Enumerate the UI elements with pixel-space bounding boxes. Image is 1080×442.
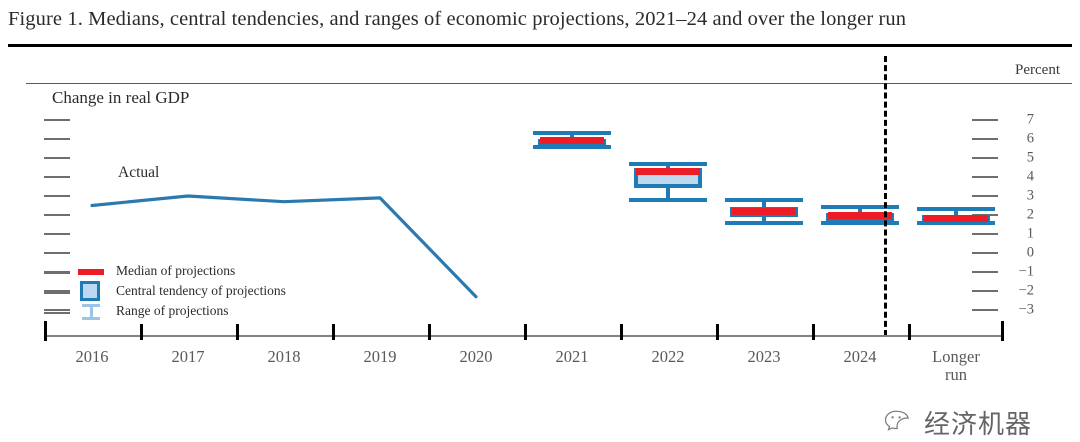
- whisker-cap-high: [629, 162, 707, 166]
- y-tick-left: [44, 214, 70, 216]
- y-tick-label: 0: [1008, 245, 1034, 262]
- figure-title: Figure 1. Medians, central tendencies, a…: [8, 8, 1072, 31]
- whisker-cap-high: [821, 205, 899, 209]
- x-tick: [908, 324, 911, 340]
- y-tick-label: −1: [1008, 264, 1034, 281]
- y-tick-left: [44, 252, 70, 254]
- watermark-text: 经济机器: [924, 404, 1032, 441]
- whisker-cap-low: [725, 221, 803, 225]
- x-tick-label: 2023: [748, 348, 781, 366]
- y-tick-right: [972, 119, 998, 121]
- y-tick-label: −2: [1008, 283, 1034, 300]
- figure-root: Figure 1. Medians, central tendencies, a…: [0, 0, 1080, 420]
- legend-label: Central tendency of projections: [116, 283, 286, 299]
- y-tick-label: 1: [1008, 226, 1034, 243]
- longer-run-divider: [884, 56, 887, 336]
- legend-label: Range of projections: [116, 303, 228, 319]
- legend-box-swatch: [80, 281, 100, 301]
- y-tick-left: [44, 119, 70, 121]
- whisker-cap-low: [821, 221, 899, 225]
- median-bar: [732, 208, 796, 215]
- y-tick-left: [44, 157, 70, 159]
- x-tick-label: 2020: [460, 348, 493, 366]
- x-tick: [524, 324, 527, 340]
- y-tick-right: [972, 290, 998, 292]
- whisker-cap-high: [533, 131, 611, 135]
- chart-panel: Percent Change in real GDP Actual 765432…: [0, 52, 1080, 420]
- x-tick: [812, 324, 815, 340]
- x-tick: [140, 324, 143, 340]
- legend-tick-rule: [44, 272, 70, 274]
- whisker-cap-high: [917, 207, 995, 211]
- legend-median-swatch: [78, 269, 104, 275]
- y-tick-left: [44, 195, 70, 197]
- median-bar: [828, 212, 892, 219]
- x-axis-left-cap: [44, 321, 47, 341]
- y-tick-label: 3: [1008, 188, 1034, 205]
- whisker-cap-low: [629, 198, 707, 202]
- actual-series-label: Actual: [118, 164, 159, 182]
- y-tick-right: [972, 233, 998, 235]
- y-tick-left: [44, 138, 70, 140]
- x-tick-label: 2018: [268, 348, 301, 366]
- x-tick-label: Longerrun: [932, 348, 980, 384]
- title-divider-rule: [8, 44, 1072, 47]
- y-tick-right: [972, 195, 998, 197]
- y-tick-label: 7: [1008, 112, 1034, 129]
- y-tick-label: 4: [1008, 169, 1034, 186]
- y-tick-label: 2: [1008, 207, 1034, 224]
- y-tick-right: [972, 271, 998, 273]
- watermark: 经济机器: [884, 404, 1032, 441]
- median-bar: [636, 168, 700, 175]
- x-tick-label: 2022: [652, 348, 685, 366]
- y-tick-label: 5: [1008, 150, 1034, 167]
- x-tick: [332, 324, 335, 340]
- legend-tick-rule: [44, 312, 70, 314]
- panel-top-rule: [26, 83, 1072, 84]
- x-tick: [620, 324, 623, 340]
- y-tick-left: [44, 233, 70, 235]
- median-bar: [540, 137, 604, 144]
- median-bar: [924, 215, 988, 222]
- y-tick-label: 6: [1008, 131, 1034, 148]
- x-tick-label: 2021: [556, 348, 589, 366]
- legend-tick-rule: [44, 292, 70, 294]
- y-tick-left: [44, 176, 70, 178]
- x-tick: [716, 324, 719, 340]
- y-tick-right: [972, 138, 998, 140]
- y-tick-right: [972, 309, 998, 311]
- x-tick: [236, 324, 239, 340]
- y-tick-label: −3: [1008, 302, 1034, 319]
- whisker-cap-high: [725, 198, 803, 202]
- y-axis-unit-label: Percent: [1015, 62, 1060, 79]
- wechat-icon: [884, 409, 918, 437]
- x-tick: [428, 324, 431, 340]
- x-tick-label: 2024: [844, 348, 877, 366]
- legend-range-swatch: [82, 304, 100, 320]
- panel-title: Change in real GDP: [52, 88, 189, 108]
- x-tick-label: 2019: [364, 348, 397, 366]
- y-tick-right: [972, 252, 998, 254]
- legend-label: Median of projections: [116, 263, 235, 279]
- y-tick-right: [972, 157, 998, 159]
- x-tick-label: 2017: [172, 348, 205, 366]
- y-tick-left: [44, 309, 70, 311]
- y-tick-right: [972, 176, 998, 178]
- x-axis-right-cap: [1001, 321, 1004, 341]
- x-tick-label: 2016: [76, 348, 109, 366]
